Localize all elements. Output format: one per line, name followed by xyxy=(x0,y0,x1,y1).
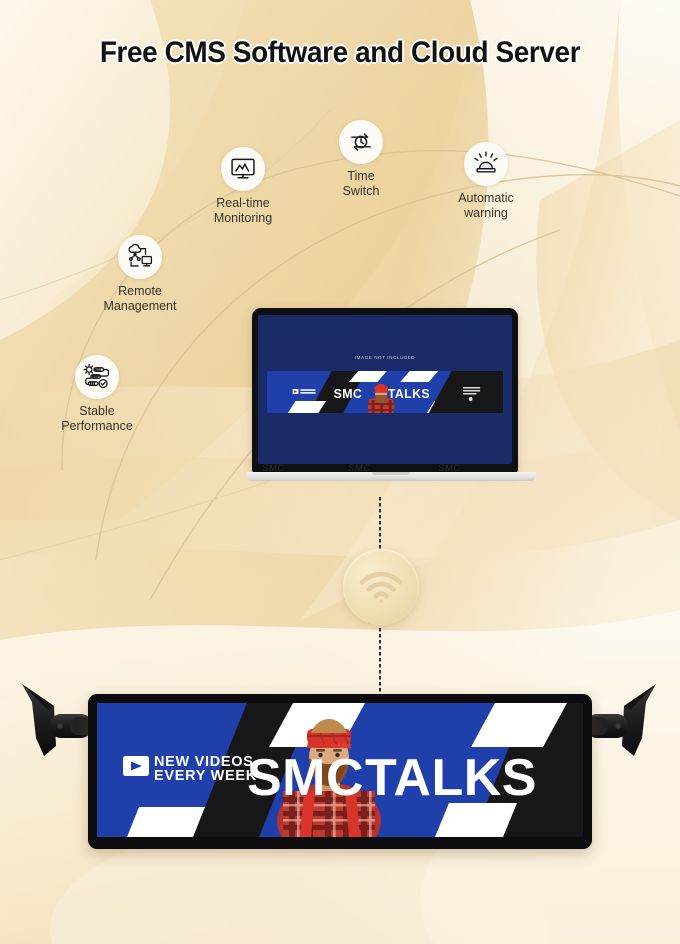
wifi-icon xyxy=(343,549,419,625)
display-panel-bezel: SMC TALKS NEW VIDEOS EVERY WEEK xyxy=(88,694,592,849)
cloud-network-monitor-icon xyxy=(118,235,162,279)
monitor-chart-icon xyxy=(221,147,265,191)
headline-left: SMC xyxy=(247,749,364,807)
play-button-icon xyxy=(123,756,149,776)
image-not-included-note: IMAGE NOT INCLUDED xyxy=(258,355,512,360)
clock-refresh-icon xyxy=(339,120,383,164)
feature-time-switch[interactable]: Time Switch xyxy=(296,120,426,200)
svg-text:SMC: SMC xyxy=(334,387,363,401)
feature-automatic-warning[interactable]: Automatic warning xyxy=(421,142,551,222)
laptop-screen: IMAGE NOT INCLUDED xyxy=(258,315,512,464)
feature-label: Real-time Monitoring xyxy=(178,196,308,227)
siren-beacon-icon xyxy=(464,142,508,186)
stretched-bar-display: SMC TALKS NEW VIDEOS EVERY WEEK xyxy=(0,672,680,892)
feature-label: Remote Management xyxy=(75,284,205,315)
laptop-mockup: IMAGE NOT INCLUDED xyxy=(246,308,536,493)
feature-label: Stable Performance xyxy=(32,404,162,435)
headline-right: TALKS xyxy=(365,749,537,807)
gear-pipeline-icon xyxy=(75,355,119,399)
feature-label: Time Switch xyxy=(296,169,426,200)
display-artwork: SMC TALKS NEW VIDEOS EVERY WEEK xyxy=(97,703,583,837)
svg-text:TALKS: TALKS xyxy=(388,387,430,401)
feature-remote-management[interactable]: Remote Management xyxy=(75,235,205,315)
feature-stable-performance[interactable]: Stable Performance xyxy=(32,355,162,435)
wall-mount-bracket-icon xyxy=(8,672,100,782)
feature-label: Automatic warning xyxy=(421,191,551,222)
dotted-link-upper xyxy=(379,497,381,551)
laptop-lid: IMAGE NOT INCLUDED xyxy=(252,308,518,473)
laptop-base-notch xyxy=(372,472,410,475)
page-title: Free CMS Software and Cloud Server xyxy=(24,36,656,70)
feature-real-time-monitoring[interactable]: Real-time Monitoring xyxy=(178,147,308,227)
display-panel-screen: SMC TALKS NEW VIDEOS EVERY WEEK xyxy=(97,703,583,837)
laptop-banner-artwork: SMC TALKS xyxy=(267,371,503,413)
brand-line-2: EVERY WEEK xyxy=(154,768,257,784)
